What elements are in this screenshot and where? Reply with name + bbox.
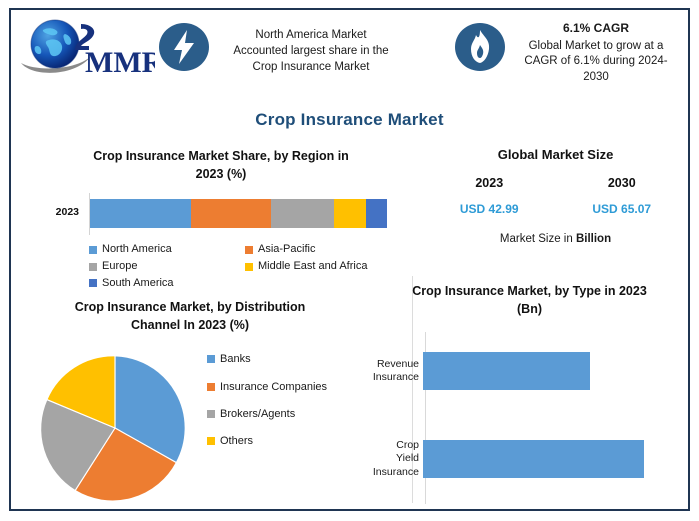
- region-segment-mea: [334, 199, 367, 228]
- type-label-revenue-insurance: Revenue Insurance: [371, 358, 423, 385]
- market-size-footnote-prefix: Market Size in: [500, 233, 576, 245]
- header-right-line2: CAGR of 6.1% during 2024-: [506, 54, 686, 70]
- legend-label-north-america: North America: [102, 242, 172, 257]
- market-size-year-2030: 2030: [556, 176, 689, 190]
- region-share-stacked-bar: [90, 199, 387, 228]
- type-label-crop-yield-insurance-line2: Insurance: [371, 466, 419, 480]
- legend-item-asia-pacific: Asia-Pacific: [245, 242, 417, 257]
- region-share-category-label: 2023: [33, 206, 79, 218]
- mmr-logo: MMR: [19, 16, 155, 80]
- legend-item-south-america: South America: [89, 276, 241, 291]
- market-by-type-chart: Crop Insurance Market, by Type in 2023 (…: [371, 282, 688, 504]
- distribution-title-line2: Channel In 2023 (%): [25, 316, 355, 334]
- pie-legend-item-banks: Banks: [207, 352, 353, 366]
- pie-legend-item-others: Others: [207, 434, 353, 448]
- market-size-heading: Global Market Size: [423, 147, 688, 162]
- pie-legend-label-brokers-agents: Brokers/Agents: [220, 407, 295, 421]
- legend-item-north-america: North America: [89, 242, 241, 257]
- legend-item-europe: Europe: [89, 259, 241, 274]
- header-left-line3: Crop Insurance Market: [216, 60, 406, 76]
- market-by-type-title-line2: (Bn): [371, 300, 688, 318]
- pie-legend-swatch-brokers-agents: [207, 410, 215, 418]
- region-share-chart: Crop Insurance Market Share, by Region i…: [25, 147, 417, 291]
- global-market-size: Global Market Size 2023 2030 USD 42.99 U…: [423, 147, 688, 245]
- infographic-frame: MMR North America Market Accounted large…: [9, 8, 690, 511]
- type-label-crop-yield-insurance-line1: Crop Yield: [371, 439, 419, 466]
- lightning-badge: [158, 22, 210, 72]
- header-left-text: North America Market Accounted largest s…: [216, 28, 406, 76]
- market-size-value-2030: USD 65.07: [556, 202, 689, 216]
- pie-legend-item-brokers-agents: Brokers/Agents: [207, 407, 353, 421]
- type-bar-revenue-insurance: [423, 352, 590, 390]
- market-by-type-title-line1: Crop Insurance Market, by Type in 2023: [371, 282, 688, 300]
- region-segment-south-america: [366, 199, 387, 228]
- pie-chart: [39, 352, 191, 504]
- header-right-line1: Global Market to grow at a: [506, 39, 686, 55]
- region-segment-europe: [271, 199, 333, 228]
- legend-swatch-south-america: [89, 279, 97, 287]
- pie-legend-label-insurance-companies: Insurance Companies: [220, 380, 327, 394]
- distribution-channel-title: Crop Insurance Market, by Distribution C…: [25, 298, 355, 334]
- market-size-values: USD 42.99 USD 65.07: [423, 202, 688, 216]
- market-size-footnote: Market Size in Billion: [423, 233, 688, 245]
- pie-legend-swatch-banks: [207, 355, 215, 363]
- type-bar-crop-yield-insurance: [423, 440, 644, 478]
- region-segment-north-america: [90, 199, 191, 228]
- header-left-line1: North America Market: [216, 28, 406, 44]
- pie-legend-item-insurance-companies: Insurance Companies: [207, 380, 353, 394]
- flame-badge: [454, 22, 506, 72]
- legend-label-asia-pacific: Asia-Pacific: [258, 242, 315, 257]
- cagr-headline: 6.1% CAGR: [506, 20, 686, 37]
- legend-label-europe: Europe: [102, 259, 137, 274]
- market-size-years: 2023 2030: [423, 176, 688, 190]
- type-row-revenue-insurance: Revenue Insurance: [371, 350, 688, 392]
- market-size-value-2023: USD 42.99: [423, 202, 556, 216]
- region-share-title: Crop Insurance Market Share, by Region i…: [25, 147, 417, 183]
- distribution-legend: Banks Insurance Companies Brokers/Agents…: [207, 352, 353, 461]
- type-row-crop-yield-insurance: Crop Yield Insurance: [371, 438, 688, 480]
- legend-swatch-mea: [245, 263, 253, 271]
- legend-label-mea: Middle East and Africa: [258, 259, 367, 274]
- header-right-text: 6.1% CAGR Global Market to grow at a CAG…: [506, 20, 686, 86]
- svg-text:MMR: MMR: [85, 46, 155, 79]
- distribution-channel-chart: Crop Insurance Market, by Distribution C…: [25, 298, 355, 514]
- globe-logo-icon: MMR: [19, 16, 155, 80]
- distribution-plot: Banks Insurance Companies Brokers/Agents…: [25, 346, 355, 514]
- type-label-revenue-insurance-line2: Insurance: [371, 371, 419, 385]
- market-size-year-2023: 2023: [423, 176, 556, 190]
- pie-legend-swatch-others: [207, 437, 215, 445]
- pie-legend-label-others: Others: [220, 434, 253, 448]
- flame-icon: [454, 22, 506, 72]
- legend-swatch-europe: [89, 263, 97, 271]
- header: MMR North America Market Accounted large…: [11, 10, 688, 98]
- market-by-type-plot: Revenue Insurance Crop Yield Insurance: [371, 332, 688, 504]
- region-share-plot: 2023: [25, 197, 417, 233]
- region-share-legend: North America Asia-Pacific Europe Middle…: [89, 242, 417, 291]
- page-title: Crop Insurance Market: [11, 110, 688, 130]
- type-label-crop-yield-insurance: Crop Yield Insurance: [371, 439, 423, 480]
- legend-swatch-asia-pacific: [245, 246, 253, 254]
- lightning-bolt-icon: [158, 22, 210, 72]
- legend-swatch-north-america: [89, 246, 97, 254]
- header-right-line3: 2030: [506, 70, 686, 86]
- market-by-type-title: Crop Insurance Market, by Type in 2023 (…: [371, 282, 688, 318]
- type-label-revenue-insurance-line1: Revenue: [371, 358, 419, 372]
- pie-legend-swatch-insurance-companies: [207, 383, 215, 391]
- region-segment-asia-pacific: [191, 199, 271, 228]
- header-left-line2: Accounted largest share in the: [216, 44, 406, 60]
- pie-legend-label-banks: Banks: [220, 352, 251, 366]
- distribution-title-line1: Crop Insurance Market, by Distribution: [25, 298, 355, 316]
- legend-label-south-america: South America: [102, 276, 174, 291]
- legend-item-mea: Middle East and Africa: [245, 259, 417, 274]
- region-share-title-line2: 2023 (%): [25, 165, 417, 183]
- region-share-title-line1: Crop Insurance Market Share, by Region i…: [25, 147, 417, 165]
- market-size-footnote-unit: Billion: [576, 233, 611, 245]
